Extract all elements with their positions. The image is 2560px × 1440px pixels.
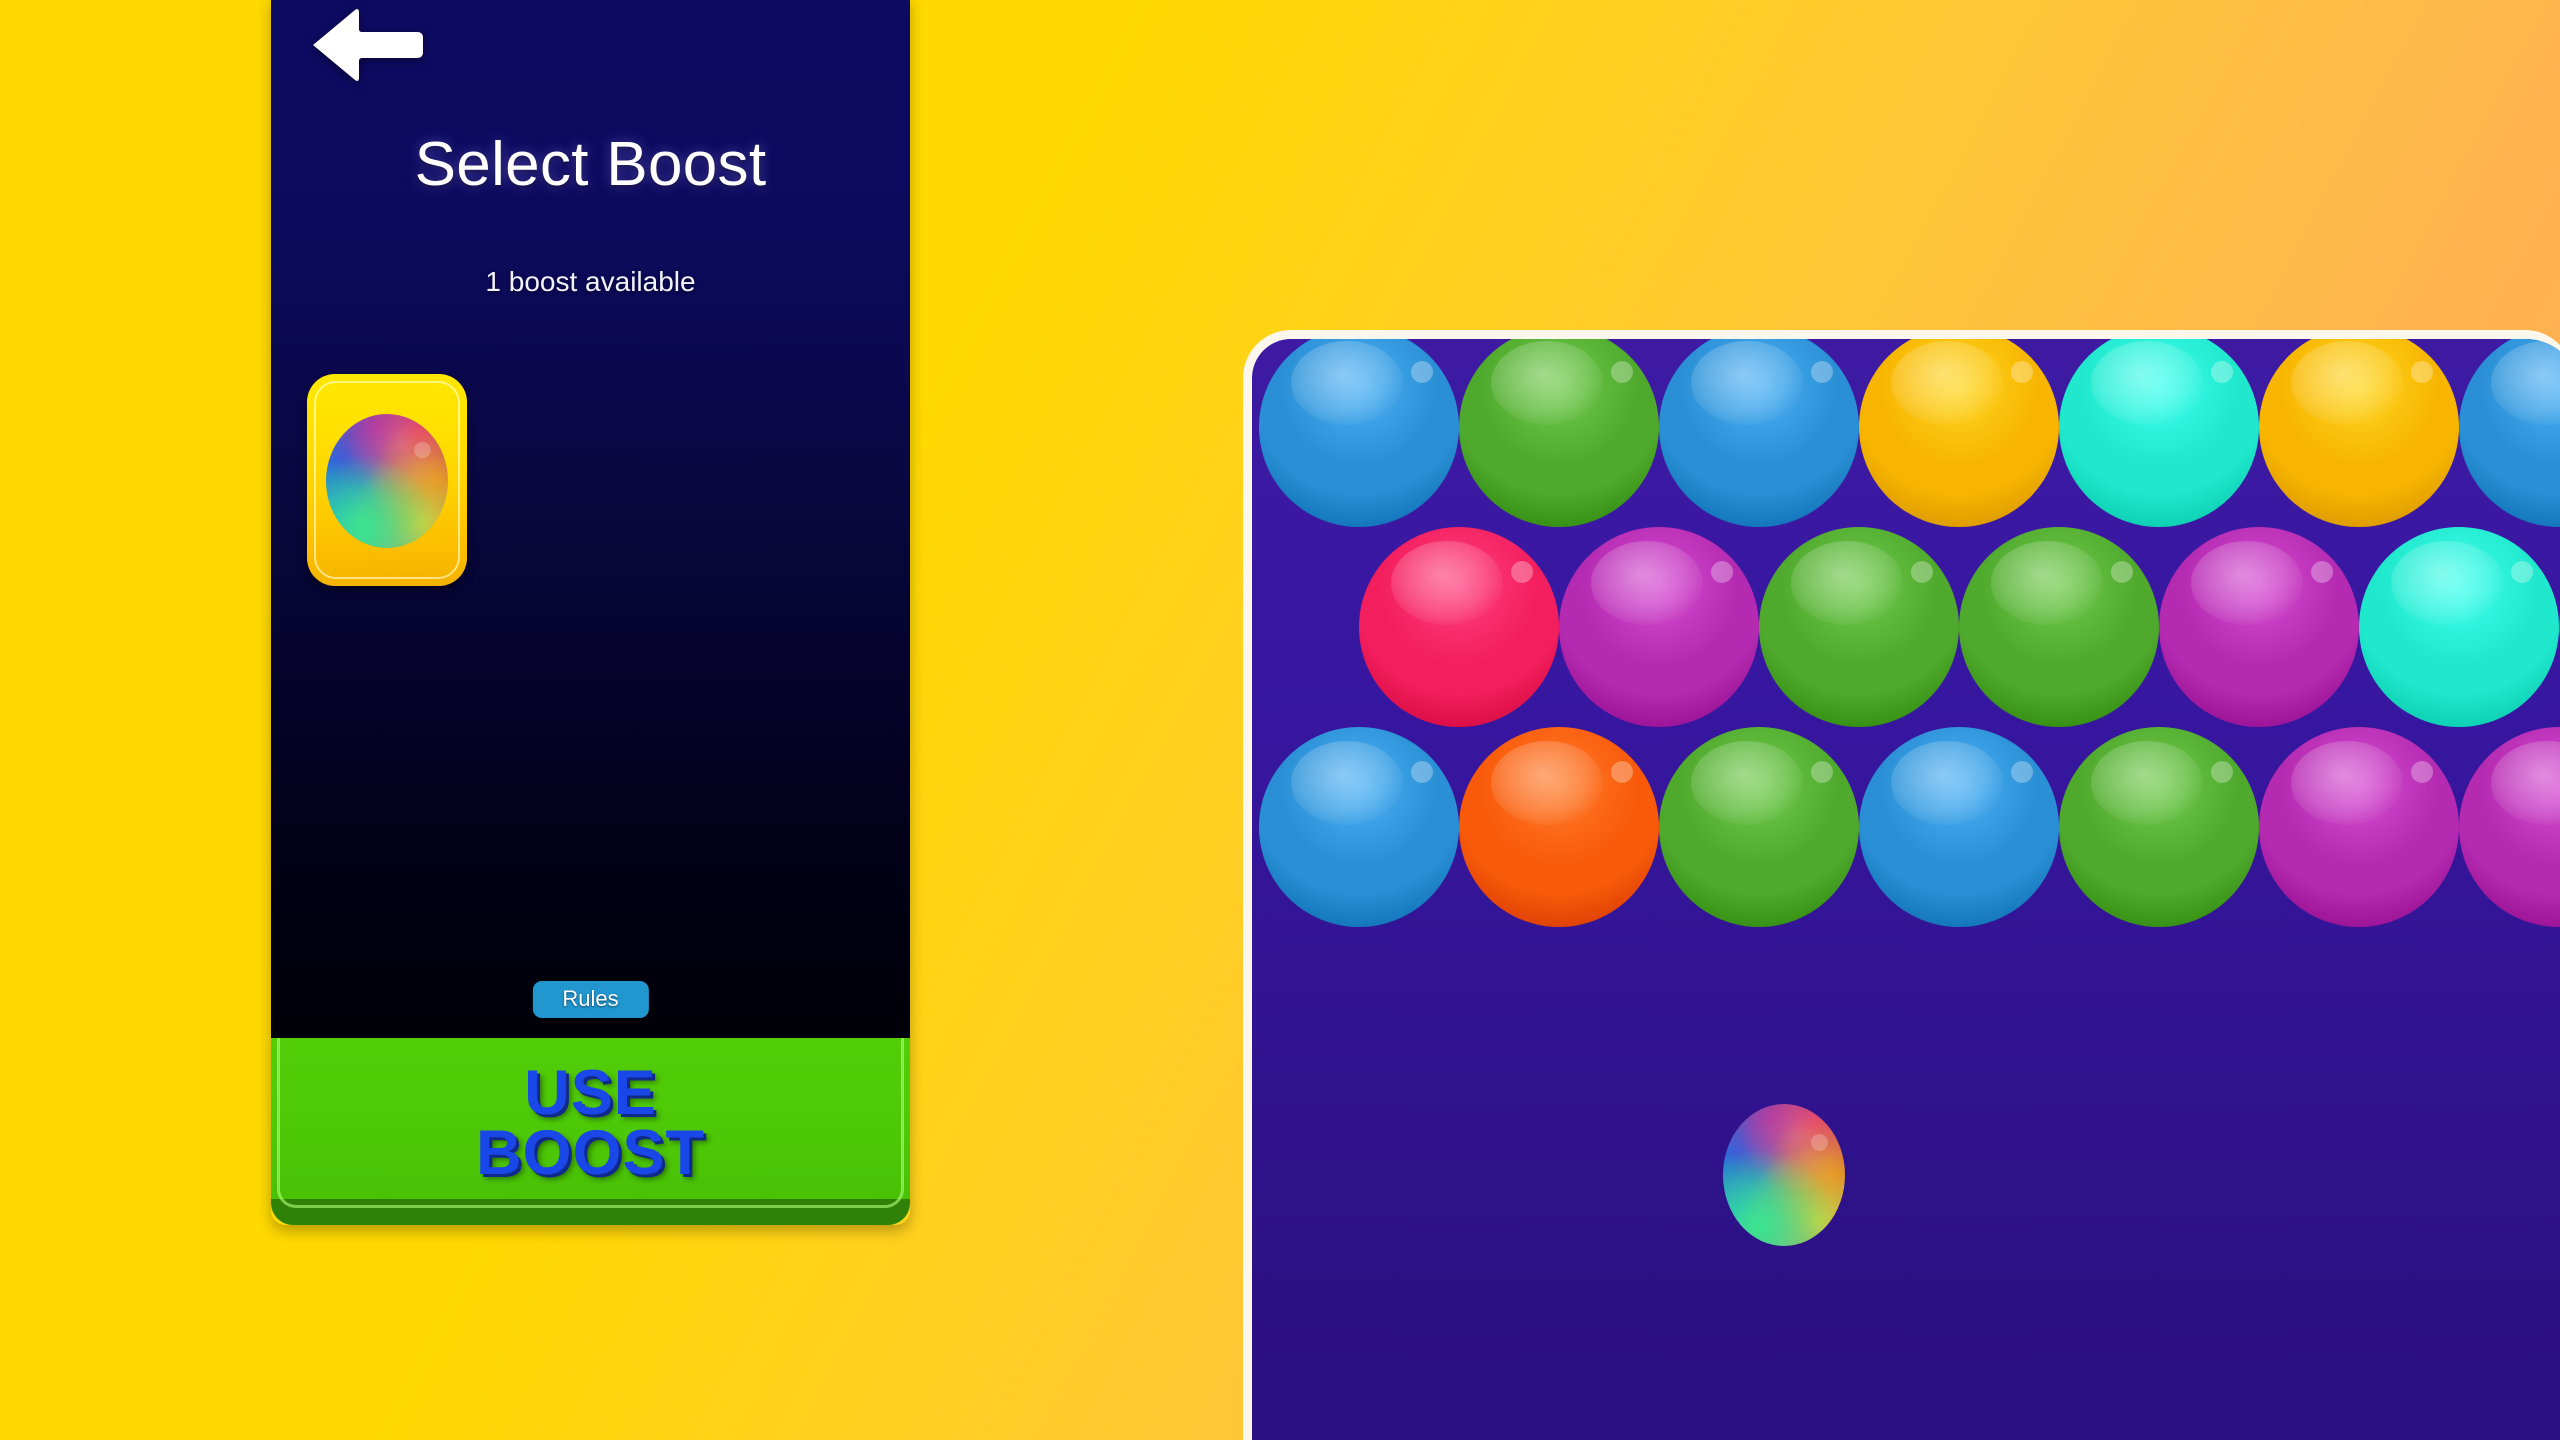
bubble-highlight-dot bbox=[1411, 361, 1433, 383]
rules-button[interactable]: Rules bbox=[532, 981, 648, 1018]
back-arrow-icon[interactable] bbox=[309, 4, 427, 86]
bubble-highlight bbox=[1891, 341, 2003, 425]
bubble-highlight bbox=[1691, 341, 1803, 425]
bubble-highlight-dot bbox=[1711, 561, 1733, 583]
bubble-highlight-dot bbox=[1611, 761, 1633, 783]
bubble-magenta[interactable] bbox=[2459, 727, 2560, 927]
bubble-blue[interactable] bbox=[1259, 727, 1459, 927]
bubble-highlight-dot bbox=[2011, 361, 2033, 383]
bubble-highlight bbox=[2091, 341, 2203, 425]
bubble-highlight bbox=[1291, 741, 1403, 825]
bubble-highlight bbox=[1491, 741, 1603, 825]
page-title: Select Boost bbox=[271, 129, 910, 200]
bubble-highlight bbox=[2491, 341, 2560, 425]
rainbow-bubble-icon bbox=[326, 414, 448, 548]
bubble-cyan[interactable] bbox=[2059, 330, 2259, 527]
bubble-red[interactable] bbox=[1359, 527, 1559, 727]
bubble-highlight bbox=[1591, 541, 1703, 625]
bubble-highlight-dot bbox=[2211, 761, 2233, 783]
bubble-highlight bbox=[1891, 741, 2003, 825]
bubble-highlight-dot bbox=[1811, 761, 1833, 783]
panel-body: Select Boost 1 boost available Rules bbox=[271, 0, 910, 1038]
bubble-highlight bbox=[2291, 341, 2403, 425]
bubble-game-board[interactable] bbox=[1243, 330, 2560, 1440]
bubble-highlight-dot bbox=[2011, 761, 2033, 783]
bubble-magenta[interactable] bbox=[2259, 727, 2459, 927]
bubble-orange[interactable] bbox=[1459, 727, 1659, 927]
bubble-highlight-dot bbox=[1611, 361, 1633, 383]
boost-count-label: 1 boost available bbox=[271, 266, 910, 298]
bubble-green[interactable] bbox=[1759, 527, 1959, 727]
bubble-highlight-dot bbox=[1911, 561, 1933, 583]
bubble-highlight bbox=[1391, 541, 1503, 625]
game-screen: Select Boost 1 boost available Rules USE… bbox=[0, 0, 2560, 1440]
bubble-gold[interactable] bbox=[1859, 330, 2059, 527]
bubble-highlight bbox=[2291, 741, 2403, 825]
bubble-green[interactable] bbox=[1959, 527, 2159, 727]
bubble-highlight bbox=[2091, 741, 2203, 825]
bubble-blue[interactable] bbox=[1859, 727, 2059, 927]
use-boost-button[interactable]: USE BOOST bbox=[271, 1038, 910, 1225]
bubble-magenta[interactable] bbox=[1559, 527, 1759, 727]
bubble-blue[interactable] bbox=[1659, 330, 1859, 527]
use-boost-label: USE BOOST bbox=[476, 1064, 705, 1184]
bubble-blue[interactable] bbox=[1259, 330, 1459, 527]
select-boost-panel: Select Boost 1 boost available Rules USE… bbox=[271, 0, 910, 1225]
bubble-highlight-dot bbox=[2411, 761, 2433, 783]
bubble-highlight-dot bbox=[1811, 361, 1833, 383]
bubble-highlight bbox=[2191, 541, 2303, 625]
bubble-green[interactable] bbox=[1659, 727, 1859, 927]
bubble-highlight-dot bbox=[2511, 561, 2533, 583]
boost-list bbox=[307, 374, 874, 586]
bubble-green[interactable] bbox=[2059, 727, 2259, 927]
bubble-magenta[interactable] bbox=[2159, 527, 2359, 727]
bubble-highlight bbox=[1291, 341, 1403, 425]
bubble-highlight bbox=[2391, 541, 2503, 625]
bubble-highlight-dot bbox=[1411, 761, 1433, 783]
bubble-highlight-dot bbox=[1511, 561, 1533, 583]
bubble-green[interactable] bbox=[1459, 330, 1659, 527]
bubble-highlight bbox=[2491, 741, 2560, 825]
bubble-highlight bbox=[1791, 541, 1903, 625]
bubble-highlight-dot bbox=[2211, 361, 2233, 383]
bubble-blue[interactable] bbox=[2459, 330, 2560, 527]
bubble-cyan[interactable] bbox=[2359, 527, 2559, 727]
bubble-highlight-dot bbox=[2311, 561, 2333, 583]
bubble-highlight-dot bbox=[2411, 361, 2433, 383]
rainbow-bubble-icon bbox=[1723, 1104, 1845, 1246]
bubble-highlight bbox=[1691, 741, 1803, 825]
bubble-highlight bbox=[1991, 541, 2103, 625]
bubble-highlight bbox=[1491, 341, 1603, 425]
bubble-gold[interactable] bbox=[2259, 330, 2459, 527]
bubble-highlight-dot bbox=[2111, 561, 2133, 583]
launcher-bubble[interactable] bbox=[1723, 1104, 1845, 1246]
boost-card-rainbow-bubble[interactable] bbox=[307, 374, 467, 586]
